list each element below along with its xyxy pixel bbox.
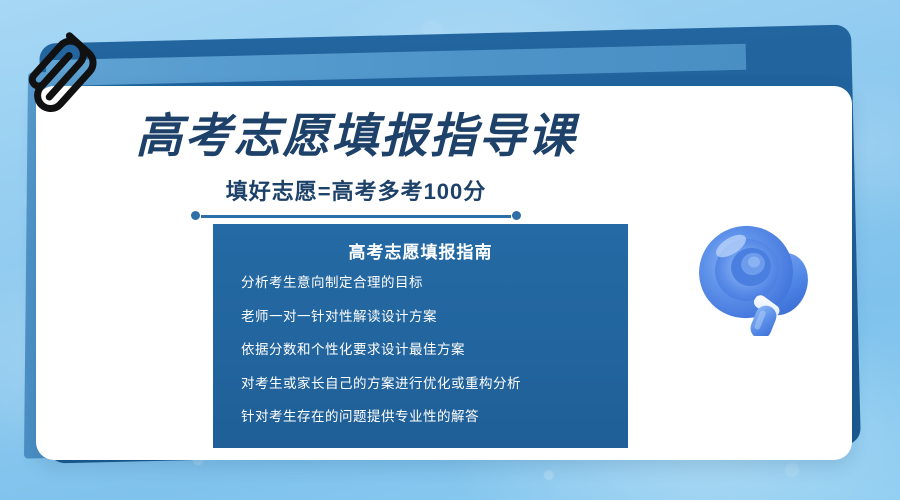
subtitle-dot-right-icon: [512, 211, 521, 220]
megaphone-icon: [691, 212, 819, 336]
list-item: 对考生或家长自己的方案进行优化或重构分析: [241, 377, 628, 391]
paperclip-icon: [14, 26, 100, 112]
guide-panel-list: 分析考生意向制定合理的目标 老师一对一针对性解读设计方案 依据分数和个性化要求设…: [213, 276, 628, 424]
list-item: 老师一对一针对性解读设计方案: [241, 310, 628, 324]
subtitle-dot-left-icon: [191, 211, 200, 220]
page-title: 高考志愿填报指导课: [36, 112, 676, 161]
guide-panel-heading: 高考志愿填报指南: [213, 238, 628, 263]
page-subtitle: 填好志愿=高考多考100分: [226, 174, 487, 206]
subtitle-underline: [191, 211, 521, 221]
subtitle-rule-line: [201, 215, 511, 218]
poster-canvas: 高考志愿填报指导课 填好志愿=高考多考100分 高考志愿填报指南 分析考生意向制…: [0, 0, 900, 500]
list-item: 依据分数和个性化要求设计最佳方案: [241, 343, 628, 357]
subtitle-block: 填好志愿=高考多考100分: [36, 174, 676, 221]
list-item: 分析考生意向制定合理的目标: [241, 276, 628, 290]
list-item: 针对考生存在的问题提供专业性的解答: [241, 410, 628, 424]
guide-panel: 高考志愿填报指南 分析考生意向制定合理的目标 老师一对一针对性解读设计方案 依据…: [213, 224, 628, 448]
main-white-card: 高考志愿填报指导课 填好志愿=高考多考100分 高考志愿填报指南 分析考生意向制…: [36, 86, 852, 460]
